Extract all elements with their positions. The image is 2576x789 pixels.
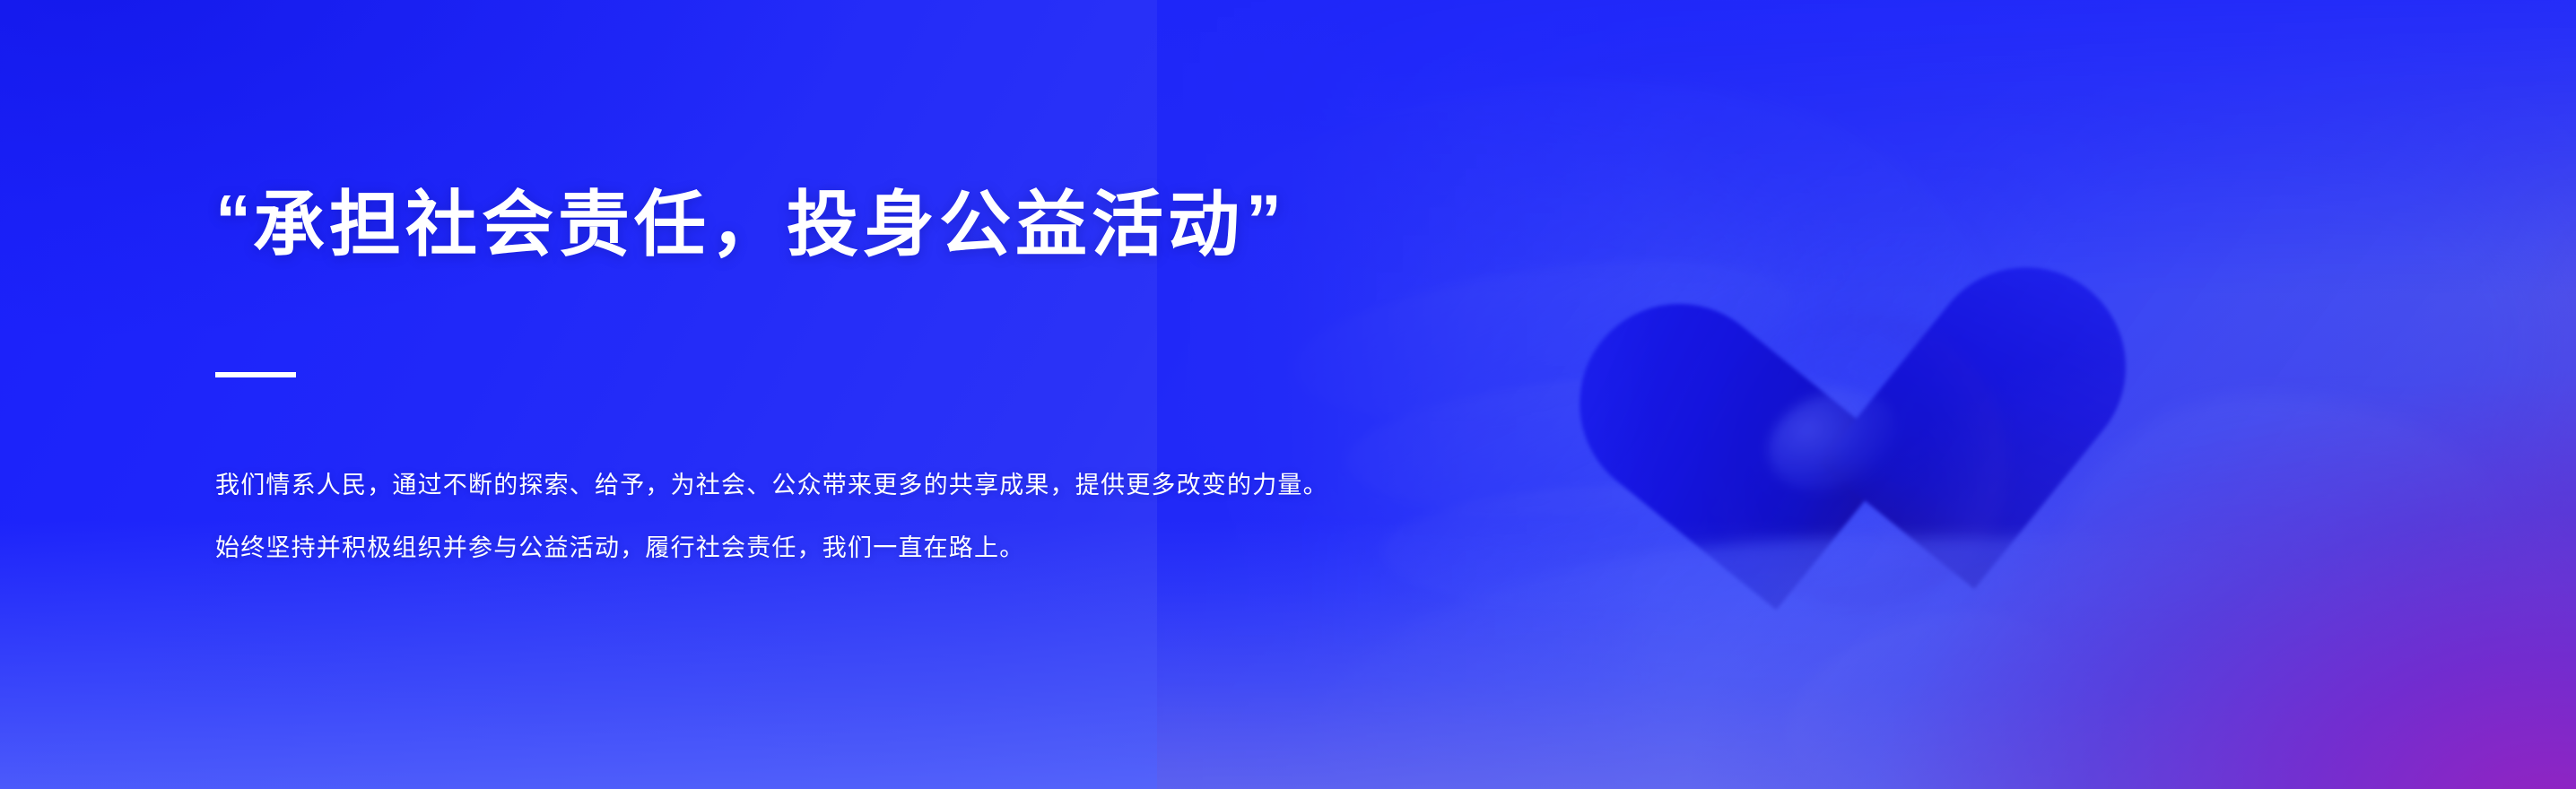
banner-body-copy: 我们情系人民，通过不断的探索、给予，为社会、公众带来更多的共享成果，提供更多改变… (215, 473, 1328, 560)
csr-hero-banner: “ 承担社会责任，投身公益活动 ” 我们情系人民，通过不断的探索、给予，为社会、… (0, 0, 2576, 789)
body-line: 始终坚持并积极组织并参与公益活动，履行社会责任，我们一直在路上。 (215, 536, 1328, 560)
headline-divider-rule (215, 372, 296, 377)
opening-quote-mark: “ (215, 185, 251, 256)
headline-text: 承担社会责任，投身公益活动 (253, 185, 1244, 265)
body-line: 我们情系人民，通过不断的探索、给予，为社会、公众带来更多的共享成果，提供更多改变… (215, 473, 1328, 498)
closing-quote-mark: ” (1246, 185, 1282, 256)
banner-content: “ 承担社会责任，投身公益活动 ” 我们情系人民，通过不断的探索、给予，为社会、… (215, 0, 1579, 789)
banner-headline: “ 承担社会责任，投身公益活动 ” (215, 185, 1282, 265)
